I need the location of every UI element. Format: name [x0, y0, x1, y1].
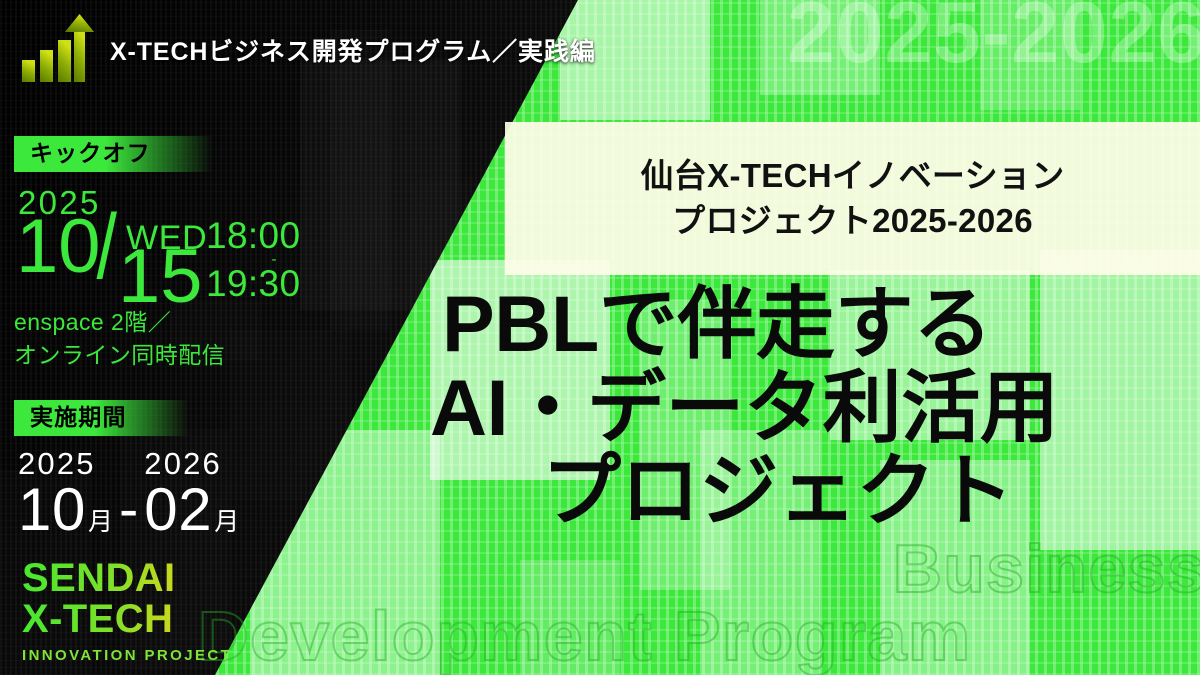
headline-line-2: AI・データ利活用: [430, 366, 1200, 450]
kickoff-day: 15: [118, 239, 203, 315]
period-end-month-group: 02 月: [144, 481, 239, 538]
period-start-suffix: 月: [88, 502, 113, 538]
headline-line-1: PBLで伴走する: [442, 282, 1200, 366]
period-end-suffix: 月: [214, 502, 239, 538]
header-title: X-TECHビジネス開発プログラム／実践編: [110, 32, 596, 68]
logo-line-xtech: X-TECH: [22, 599, 232, 640]
period-end-year: 2026: [144, 448, 239, 479]
period-start: 2025 10 月: [18, 448, 113, 538]
logo-line-tagline: INNOVATION PROJECT: [22, 647, 232, 664]
project-title-band: 仙台X-TECHイノベーション プロジェクト2025-2026: [505, 122, 1200, 275]
period-range: 2025 10 月 - 2026 02 月: [18, 448, 239, 538]
project-title-line-2: プロジェクト2025-2026: [672, 200, 1033, 242]
kickoff-time-start: 18:00: [206, 217, 300, 255]
kickoff-date-row: 10 / WED 15 18:00 - 19:30: [16, 215, 300, 305]
sendai-xtech-logo: SENDAI X-TECH INNOVATION PROJECT: [22, 558, 232, 664]
period-badge: 実施期間: [14, 400, 189, 436]
period-end: 2026 02 月: [144, 448, 239, 538]
kickoff-slash: /: [97, 201, 117, 293]
project-title-line-1: 仙台X-TECHイノベーション: [640, 155, 1064, 197]
venue-block: enspace 2階／ オンライン同時配信: [14, 306, 225, 371]
period-dash: -: [119, 482, 138, 537]
kickoff-times: 18:00 - 19:30: [206, 217, 300, 303]
headline-block: PBLで伴走する AI・データ利活用 プロジェクト: [430, 282, 1200, 533]
period-block: 実施期間 2025 10 月 - 2026 02 月: [14, 400, 239, 538]
year-watermark: 2025-2026: [787, 0, 1200, 83]
kickoff-time-end: 19:30: [206, 265, 300, 303]
left-info-column: キックオフ 2025 10 / WED 15 18:00 - 19:30 ens…: [0, 0, 330, 675]
period-end-month: 02: [144, 481, 212, 538]
kickoff-month: 10: [16, 209, 101, 285]
period-start-month: 10: [18, 481, 86, 538]
poster-canvas: 2025-2026 X-TECHビジネス開発プログラム／実践編: [0, 0, 1200, 675]
kickoff-badge: キックオフ: [14, 136, 213, 172]
kickoff-month-day: 10 / WED 15: [16, 215, 196, 305]
headline-line-3: プロジェクト: [542, 449, 1200, 533]
period-start-year: 2025: [18, 448, 113, 479]
period-start-month-group: 10 月: [18, 481, 113, 538]
kickoff-block: キックオフ 2025 10 / WED 15 18:00 - 19:30: [14, 136, 300, 305]
venue-line-1: enspace 2階／: [14, 306, 225, 339]
logo-line-sendai: SENDAI: [22, 558, 232, 599]
venue-line-2: オンライン同時配信: [14, 339, 225, 372]
bar-chart-growth-icon: [16, 14, 94, 86]
header: X-TECHビジネス開発プログラム／実践編: [16, 14, 596, 86]
